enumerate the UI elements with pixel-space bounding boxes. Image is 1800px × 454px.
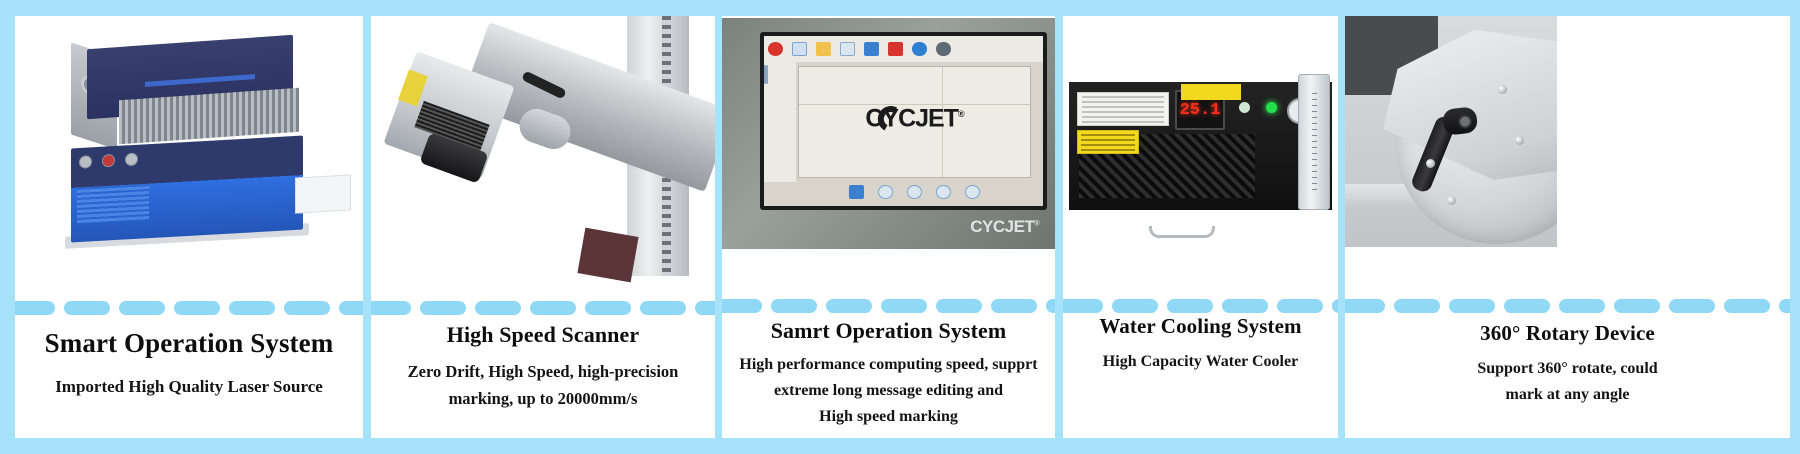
open-icon[interactable] xyxy=(816,42,831,56)
flow-protect-led xyxy=(1266,102,1277,113)
rotary-illustration xyxy=(1345,16,1557,247)
dashed-divider xyxy=(722,299,1055,313)
card-title: High Speed Scanner xyxy=(377,322,709,348)
software-side-toolbar[interactable] xyxy=(764,62,796,182)
key-switch-icon xyxy=(125,153,138,167)
card-description: Support 360° rotate, could mark at any a… xyxy=(1351,356,1784,408)
product-photo-scanner xyxy=(371,16,715,284)
save-icon[interactable] xyxy=(864,42,879,56)
indicator-knob xyxy=(79,155,92,169)
flow-meter xyxy=(1298,74,1330,210)
redo-icon[interactable] xyxy=(936,42,951,56)
card-description: Zero Drift, High Speed, high-precision m… xyxy=(377,359,709,412)
new-icon[interactable] xyxy=(792,42,807,56)
cycjet-logo-text: CYCJET® xyxy=(865,104,963,133)
explore-icon[interactable] xyxy=(849,185,864,199)
caption-block: Water Cooling System High Capacity Water… xyxy=(1063,314,1338,375)
laser-front-controls xyxy=(79,152,144,174)
laser-vent-slots xyxy=(77,184,149,224)
text-icon[interactable] xyxy=(766,65,768,84)
all-icon[interactable] xyxy=(965,185,980,199)
undo-icon[interactable] xyxy=(912,42,927,56)
software-toolbar[interactable] xyxy=(764,36,1043,62)
feature-banner: Smart Operation System Imported High Qua… xyxy=(0,0,1800,454)
temperature-value: 25.1 xyxy=(1180,101,1221,120)
design-canvas[interactable]: CYCJET® xyxy=(798,66,1031,178)
scanner-illustration xyxy=(371,16,715,284)
dashed-divider xyxy=(371,301,715,315)
chiller-spec-plate xyxy=(1077,92,1169,126)
product-photo-laser-source xyxy=(15,16,363,286)
save-as-icon[interactable] xyxy=(840,42,855,56)
card-description: Imported High Quality Laser Source xyxy=(21,373,357,401)
feature-card-water-cooling-system: 25.1 Water Cooling System High Capacity … xyxy=(1063,16,1338,438)
laser-spec-label xyxy=(295,174,351,213)
controller-brand-mark: CYCJET® xyxy=(970,217,1039,237)
compressor-led xyxy=(1239,102,1250,113)
screw-icon xyxy=(1426,159,1435,168)
caption-block: 360° Rotary Device Support 360° rotate, … xyxy=(1345,321,1790,408)
caption-block: High Speed Scanner Zero Drift, High Spee… xyxy=(371,322,715,412)
software-bottom-toolbar[interactable] xyxy=(798,180,1031,204)
screw-icon xyxy=(1447,196,1456,205)
product-photo-rotary xyxy=(1345,16,1557,247)
feature-card-smart-operation-system: Smart Operation System Imported High Qua… xyxy=(15,16,363,438)
dashed-divider xyxy=(15,301,363,315)
warning-label xyxy=(1077,130,1139,154)
laser-hazard-label xyxy=(1181,84,1241,100)
card-title: 360° Rotary Device xyxy=(1351,321,1784,346)
emergency-stop-icon xyxy=(102,154,115,168)
delete-icon[interactable] xyxy=(888,42,903,56)
card-description: High Capacity Water Cooler xyxy=(1069,349,1332,375)
feature-card-rotary-device: 360° Rotary Device Support 360° rotate, … xyxy=(1345,16,1790,438)
scanner-mount-bracket xyxy=(577,228,638,283)
off-icon[interactable] xyxy=(768,42,783,56)
laser-source-illustration xyxy=(15,16,363,286)
feature-card-samrt-operation-system: CYCJET® CYCJET® Samrt Operat xyxy=(722,16,1055,438)
screw-icon xyxy=(1515,136,1524,145)
card-description: High performance computing speed, supprt… xyxy=(728,352,1049,430)
product-photo-chiller: 25.1 xyxy=(1063,16,1338,274)
zoom-out-icon[interactable] xyxy=(907,185,922,199)
screw-icon xyxy=(1498,85,1507,94)
feature-card-high-speed-scanner: High Speed Scanner Zero Drift, High Spee… xyxy=(371,16,715,438)
card-title: Water Cooling System xyxy=(1069,314,1332,339)
card-title: Smart Operation System xyxy=(21,328,357,359)
zoom-in-icon[interactable] xyxy=(878,185,893,199)
work-icon[interactable] xyxy=(936,185,951,199)
software-screen: CYCJET® xyxy=(764,36,1043,206)
caption-block: Samrt Operation System High performance … xyxy=(722,318,1055,430)
dashed-divider xyxy=(1345,299,1790,313)
controller-screen-frame: CYCJET® xyxy=(760,32,1047,210)
product-photo-controller: CYCJET® CYCJET® xyxy=(722,18,1055,249)
chiller-illustration: 25.1 xyxy=(1063,16,1338,274)
chiller-handle xyxy=(1149,226,1215,238)
caption-block: Smart Operation System Imported High Qua… xyxy=(15,328,363,401)
dashed-divider xyxy=(1063,299,1338,313)
card-title: Samrt Operation System xyxy=(728,318,1049,344)
